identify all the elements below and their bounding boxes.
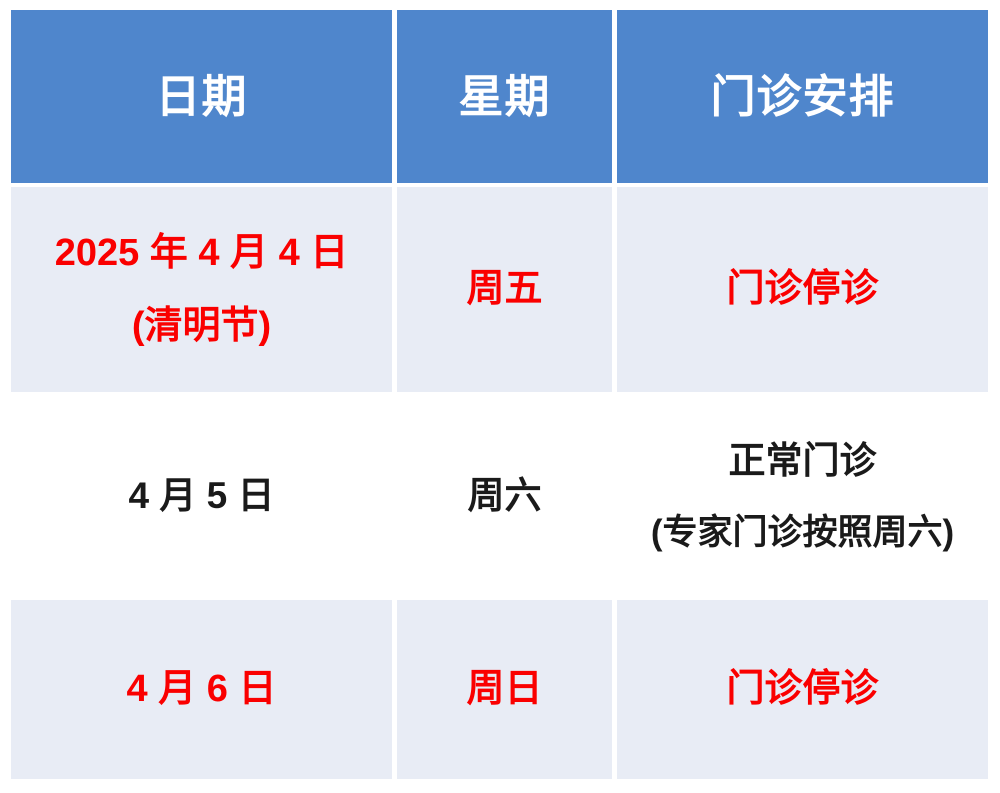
column-header-weekday: 星期 (397, 10, 612, 183)
cell-date: 2025 年 4 月 4 日 (清明节) (11, 187, 392, 392)
cell-clinic: 门诊停诊 (617, 187, 988, 392)
table-row: 2025 年 4 月 4 日 (清明节) 周五 门诊停诊 (11, 187, 988, 392)
clinic-schedule-table: 日期 星期 门诊安排 2025 年 4 月 4 日 (清明节) 周五 门诊停诊 … (11, 10, 988, 779)
cell-clinic: 门诊停诊 (617, 600, 988, 779)
cell-clinic-line-2: (专家门诊按照周六) (651, 512, 954, 553)
cell-weekday: 周日 (397, 600, 612, 779)
column-header-clinic-label: 门诊安排 (710, 70, 894, 123)
cell-date: 4 月 5 日 (11, 396, 392, 596)
cell-weekday: 周五 (397, 187, 612, 392)
cell-clinic-line-1: 门诊停诊 (726, 267, 878, 312)
cell-date-line-2: (清明节) (132, 304, 271, 349)
table-row: 4 月 6 日 周日 门诊停诊 (11, 600, 988, 779)
cell-clinic: 正常门诊 (专家门诊按照周六) (617, 396, 988, 596)
cell-date: 4 月 6 日 (11, 600, 392, 779)
column-header-date: 日期 (11, 10, 392, 183)
column-header-date-label: 日期 (155, 70, 247, 123)
cell-weekday: 周六 (397, 396, 612, 596)
table-header-row: 日期 星期 门诊安排 (11, 10, 988, 183)
cell-date-line-1: 4 月 6 日 (127, 667, 277, 712)
cell-weekday-label: 周五 (466, 267, 542, 312)
table-row: 4 月 5 日 周六 正常门诊 (专家门诊按照周六) (11, 396, 988, 596)
cell-weekday-label: 周六 (468, 474, 542, 518)
cell-date-line-1: 4 月 5 日 (129, 474, 275, 518)
column-header-weekday-label: 星期 (458, 70, 550, 123)
cell-weekday-label: 周日 (466, 667, 542, 712)
cell-clinic-line-1: 门诊停诊 (726, 667, 878, 712)
column-header-clinic: 门诊安排 (617, 10, 988, 183)
cell-date-line-1: 2025 年 4 月 4 日 (55, 231, 349, 276)
cell-clinic-line-1: 正常门诊 (729, 439, 877, 483)
